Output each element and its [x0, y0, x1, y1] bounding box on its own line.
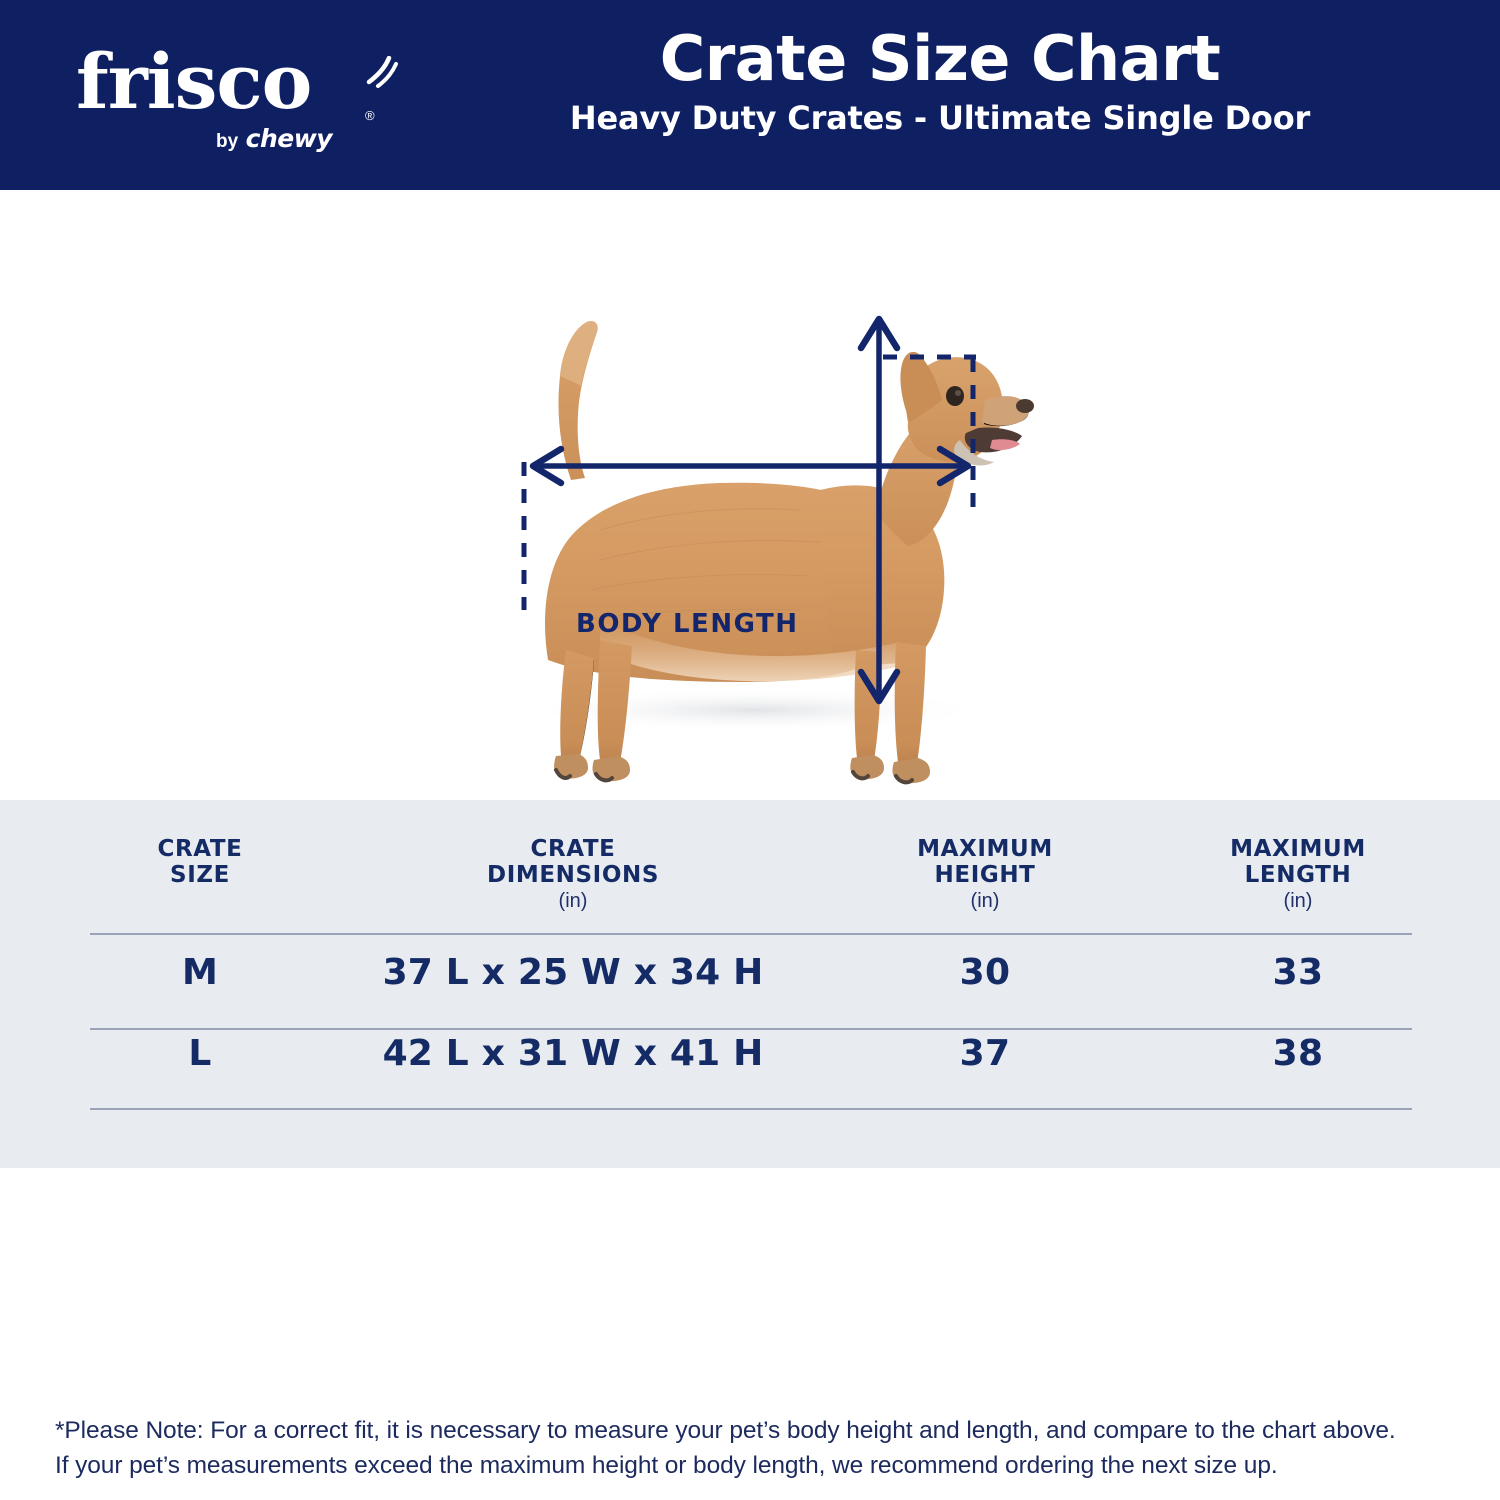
- measurement-diagram: BODY LENGTH BODY HEIGHT: [0, 190, 1500, 800]
- footnote: *Please Note: For a correct fit, it is n…: [55, 1414, 1455, 1484]
- body-length-label: BODY LENGTH: [576, 610, 798, 639]
- column-header-unit: (in): [855, 888, 1115, 914]
- column-header-line1: MAXIMUM: [1168, 836, 1428, 862]
- column-header-line1: MAXIMUM: [855, 836, 1115, 862]
- swoosh-icon: [363, 56, 403, 96]
- column-header-line2: SIZE: [100, 862, 300, 888]
- cell-maximum-length: 38: [1168, 1036, 1428, 1072]
- table-header-row: CRATE SIZE CRATE DIMENSIONS (in) MAXIMUM…: [0, 836, 1500, 936]
- frisco-logo[interactable]: frisco ® by chewy: [70, 38, 390, 163]
- registered-mark: ®: [365, 108, 375, 123]
- cell-crate-dimensions: 37 L x 25 W x 34 H: [333, 955, 813, 991]
- table-divider-top: [90, 933, 1412, 935]
- column-header-line1: CRATE: [333, 836, 813, 862]
- page-title: Crate Size Chart: [400, 26, 1480, 91]
- cell-crate-dimensions: 42 L x 31 W x 41 H: [333, 1036, 813, 1072]
- cell-maximum-height: 30: [855, 955, 1115, 991]
- header-band: frisco ® by chewy Crate Size Chart Heavy…: [0, 0, 1500, 190]
- diagram-graphics: [0, 190, 1500, 800]
- column-header-maximum-length: MAXIMUM LENGTH (in): [1168, 836, 1428, 914]
- footnote-line-2: If your pet’s measurements exceed the ma…: [55, 1449, 1455, 1484]
- dog-eye: [946, 386, 964, 406]
- table-row: M 37 L x 25 W x 34 H 30 33: [0, 955, 1500, 1035]
- cell-maximum-height: 37: [855, 1036, 1115, 1072]
- column-header-maximum-height: MAXIMUM HEIGHT (in): [855, 836, 1115, 914]
- cell-crate-size: M: [100, 955, 300, 991]
- table-row: L 42 L x 31 W x 41 H 37 38: [0, 1036, 1500, 1116]
- cell-maximum-length: 33: [1168, 955, 1428, 991]
- footnote-line-1: *Please Note: For a correct fit, it is n…: [55, 1414, 1455, 1449]
- page-subtitle: Heavy Duty Crates - Ultimate Single Door: [400, 99, 1480, 137]
- size-table-panel: CRATE SIZE CRATE DIMENSIONS (in) MAXIMUM…: [0, 800, 1500, 1168]
- table-divider-middle: [90, 1028, 1412, 1030]
- column-header-crate-size: CRATE SIZE: [100, 836, 300, 888]
- by-label: by: [216, 131, 238, 152]
- cell-crate-size: L: [100, 1036, 300, 1072]
- by-chewy-lockup: by chewy: [216, 124, 332, 154]
- column-header-unit: (in): [333, 888, 813, 914]
- column-header-line2: HEIGHT: [855, 862, 1115, 888]
- title-block: Crate Size Chart Heavy Duty Crates - Ult…: [400, 26, 1480, 137]
- column-header-line2: LENGTH: [1168, 862, 1428, 888]
- column-header-crate-dimensions: CRATE DIMENSIONS (in): [333, 836, 813, 914]
- dog-nose: [1016, 399, 1034, 413]
- chewy-wordmark: chewy: [246, 124, 332, 153]
- column-header-line1: CRATE: [100, 836, 300, 862]
- column-header-unit: (in): [1168, 888, 1428, 914]
- frisco-wordmark: frisco: [76, 44, 311, 120]
- column-header-line2: DIMENSIONS: [333, 862, 813, 888]
- table-divider-bottom: [90, 1108, 1412, 1110]
